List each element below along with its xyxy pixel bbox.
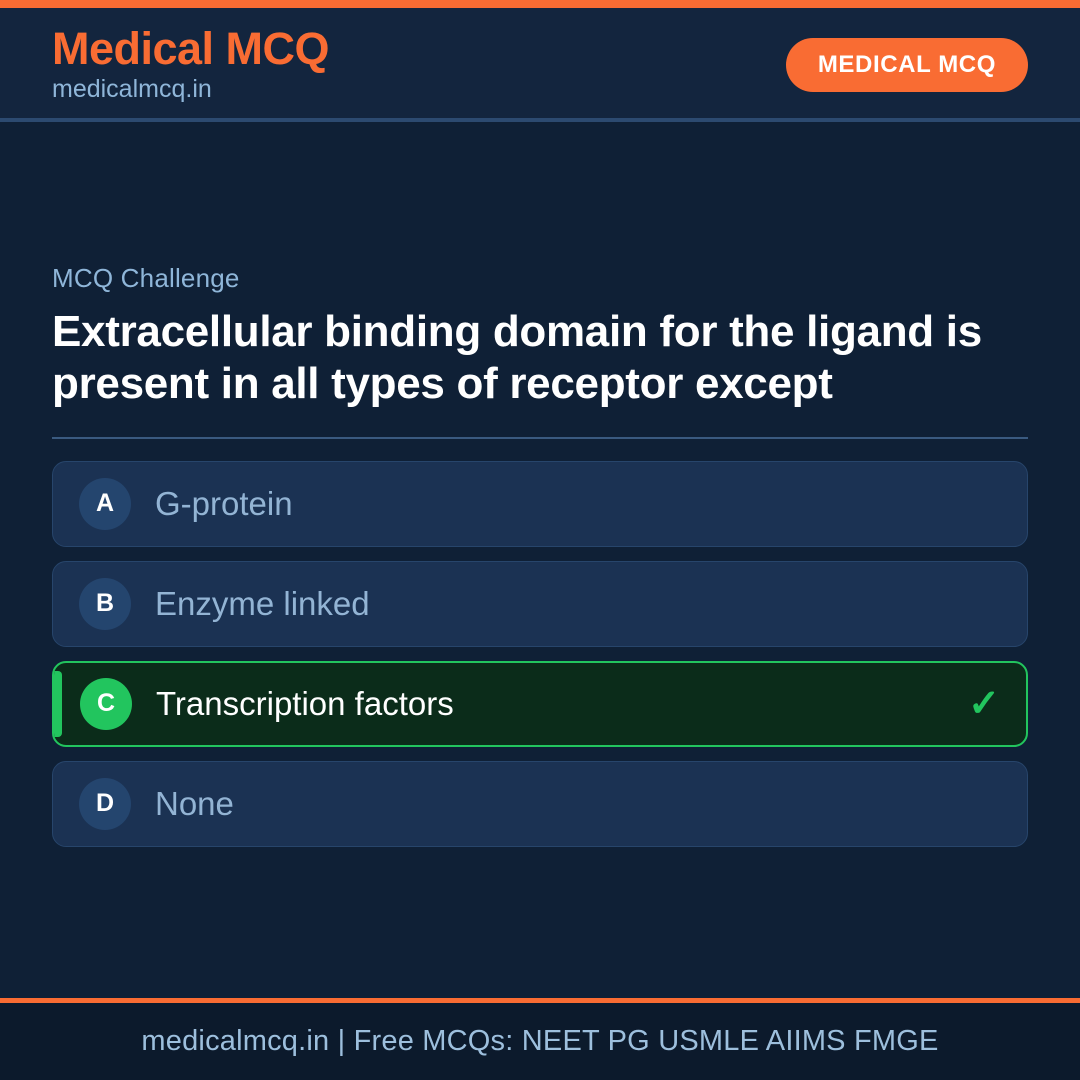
brand-title: Medical MCQ — [52, 25, 329, 73]
option-letter-badge: A — [79, 478, 131, 530]
app-footer: medicalmcq.in | Free MCQs: NEET PG USMLE… — [0, 998, 1080, 1080]
app-header: Medical MCQ medicalmcq.in MEDICAL MCQ — [0, 8, 1080, 122]
brand-block: Medical MCQ medicalmcq.in — [52, 25, 329, 106]
question-block: MCQ Challenge Extracellular binding doma… — [52, 122, 1028, 439]
option-b[interactable]: B Enzyme linked — [52, 561, 1028, 647]
option-label: None — [155, 786, 234, 822]
options-list: A G-protein B Enzyme linked C Transcript… — [52, 461, 1028, 847]
option-c[interactable]: C Transcription factors ✓ — [52, 661, 1028, 747]
header-badge: MEDICAL MCQ — [786, 38, 1028, 92]
check-icon: ✓ — [968, 685, 1000, 723]
question-text: Extracellular binding domain for the lig… — [52, 306, 1012, 411]
option-letter-badge: B — [79, 578, 131, 630]
question-divider — [52, 437, 1028, 439]
footer-text: medicalmcq.in | Free MCQs: NEET PG USMLE… — [141, 1025, 938, 1058]
option-label: Transcription factors — [156, 686, 454, 722]
top-accent-bar — [0, 0, 1080, 8]
brand-subtitle: medicalmcq.in — [52, 74, 329, 105]
option-d[interactable]: D None — [52, 761, 1028, 847]
option-letter-badge: D — [79, 778, 131, 830]
option-letter-badge: C — [80, 678, 132, 730]
question-eyebrow: MCQ Challenge — [52, 263, 1028, 294]
option-label: Enzyme linked — [155, 586, 370, 622]
option-label: G-protein — [155, 486, 293, 522]
main-content: MCQ Challenge Extracellular binding doma… — [0, 122, 1080, 988]
option-a[interactable]: A G-protein — [52, 461, 1028, 547]
